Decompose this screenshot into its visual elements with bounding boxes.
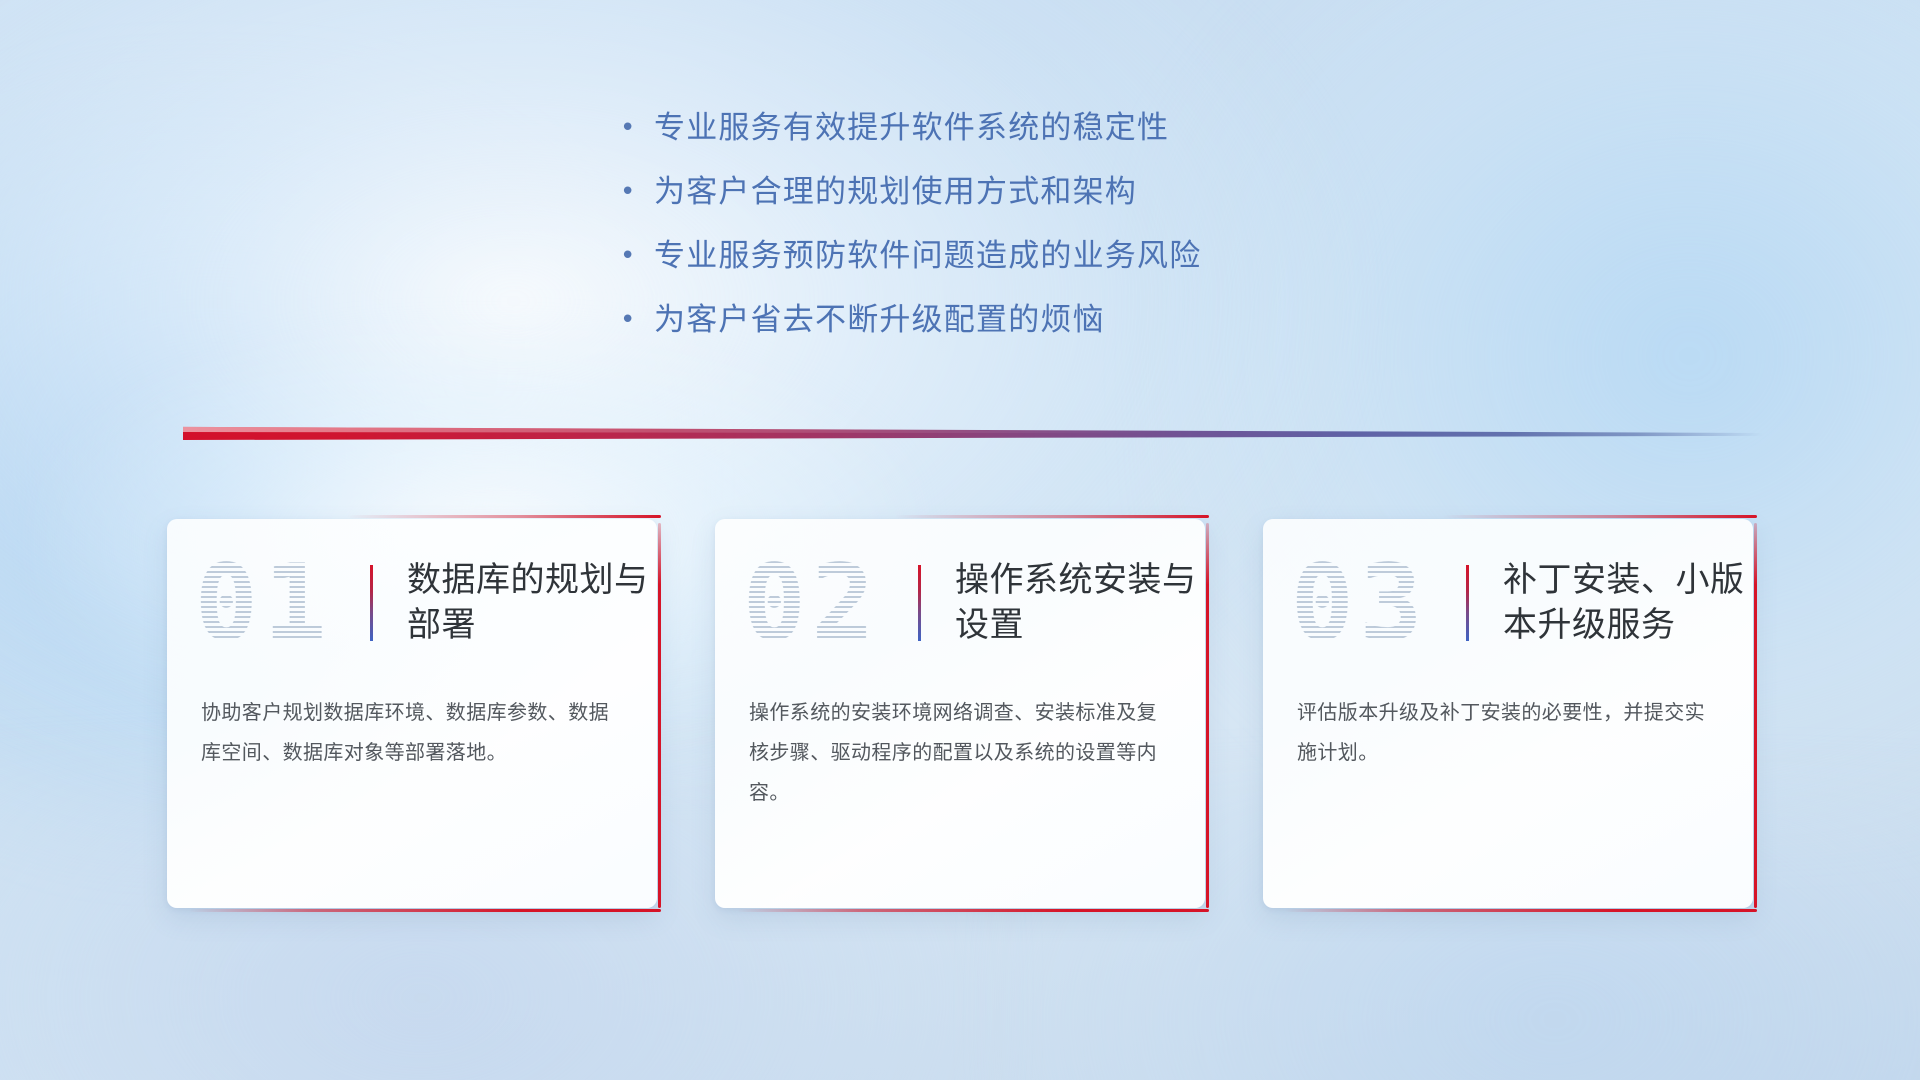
- bullet-item-text: 为客户省去不断升级配置的烦恼: [654, 288, 1105, 352]
- card-accent-bottom: [737, 909, 1209, 912]
- bullet-dot-icon: •: [620, 288, 654, 352]
- card-accent-right: [658, 523, 661, 908]
- bullet-dot-icon: •: [620, 224, 654, 288]
- card-title-accent-bar: [1466, 565, 1469, 641]
- card-body-text: 协助客户规划数据库环境、数据库参数、数据库空间、数据库对象等部署落地。: [201, 693, 623, 773]
- card-number-watermark: 01: [195, 551, 370, 655]
- card-accent-right: [1206, 523, 1209, 908]
- section-divider: [183, 424, 1763, 440]
- card-title-accent-bar: [370, 565, 373, 641]
- service-card[interactable]: 03 补丁安装、小版本升级服务 评估版本升级及补丁安装的必要性，并提交实施计划。: [1263, 519, 1753, 908]
- card-title: 数据库的规划与部署: [407, 558, 657, 648]
- bullet-item-text: 专业服务有效提升软件系统的稳定性: [654, 96, 1169, 160]
- card-title: 补丁安装、小版本升级服务: [1503, 558, 1753, 648]
- service-card[interactable]: 01 数据库的规划与部署 协助客户规划数据库环境、数据库参数、数据库空间、数据库…: [167, 519, 657, 908]
- card-header: 02 操作系统安装与设置: [715, 519, 1205, 687]
- card-body-text: 评估版本升级及补丁安装的必要性，并提交实施计划。: [1297, 693, 1719, 773]
- card-body-text: 操作系统的安装环境网络调查、安装标准及复核步骤、驱动程序的配置以及系统的设置等内…: [749, 693, 1171, 813]
- card-number-watermark: 03: [1291, 551, 1466, 655]
- card-accent-top: [1443, 515, 1757, 518]
- bullet-item: • 专业服务有效提升软件系统的稳定性: [620, 96, 1300, 160]
- card-title-accent-bar: [918, 565, 921, 641]
- card-accent-bottom: [189, 909, 661, 912]
- service-card-list: 01 数据库的规划与部署 协助客户规划数据库环境、数据库参数、数据库空间、数据库…: [0, 519, 1920, 908]
- bullet-item-text: 专业服务预防软件问题造成的业务风险: [654, 224, 1201, 288]
- bullet-item: • 为客户省去不断升级配置的烦恼: [620, 288, 1300, 352]
- bullet-dot-icon: •: [620, 96, 654, 160]
- card-accent-top: [895, 515, 1209, 518]
- benefits-bullet-list: • 专业服务有效提升软件系统的稳定性 • 为客户合理的规划使用方式和架构 • 专…: [0, 96, 1920, 352]
- bullet-dot-icon: •: [620, 160, 654, 224]
- card-title: 操作系统安装与设置: [955, 558, 1205, 648]
- bullet-item: • 为客户合理的规划使用方式和架构: [620, 160, 1300, 224]
- bullet-item: • 专业服务预防软件问题造成的业务风险: [620, 224, 1300, 288]
- service-card[interactable]: 02 操作系统安装与设置 操作系统的安装环境网络调查、安装标准及复核步骤、驱动程…: [715, 519, 1205, 908]
- card-header: 03 补丁安装、小版本升级服务: [1263, 519, 1753, 687]
- card-header: 01 数据库的规划与部署: [167, 519, 657, 687]
- bullet-item-text: 为客户合理的规划使用方式和架构: [654, 160, 1137, 224]
- card-number-watermark: 02: [743, 551, 918, 655]
- card-accent-right: [1754, 523, 1757, 908]
- card-accent-bottom: [1285, 909, 1757, 912]
- card-accent-top: [347, 515, 661, 518]
